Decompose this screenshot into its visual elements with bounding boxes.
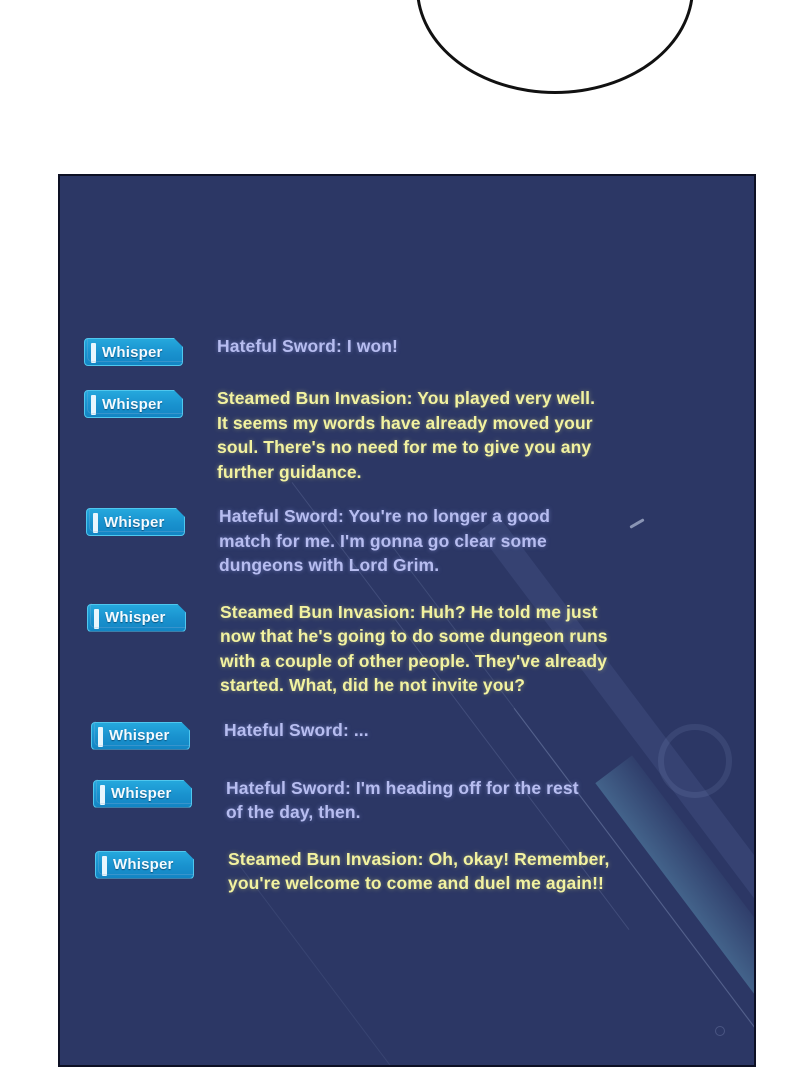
whisper-badge[interactable]: Whisper [95,851,194,879]
whisper-badge[interactable]: Whisper [86,508,185,536]
chat-message-text: Hateful Sword: I won! [217,334,740,359]
whisper-badge[interactable]: Whisper [84,390,183,418]
whisper-bar-icon [94,609,99,629]
whisper-bar-icon [102,856,107,876]
chat-message-text: Hateful Sword: ... [224,718,740,743]
chat-message-log[interactable]: Whisper Hateful Sword: I won! Whisper St… [60,176,754,916]
chat-message-text: Steamed Bun Invasion: Huh? He told me ju… [220,600,740,698]
whisper-badge-label: Whisper [87,515,176,530]
whisper-badge-label: Whisper [96,857,185,872]
whisper-badge[interactable]: Whisper [93,780,192,808]
whisper-badge-label: Whisper [85,345,174,360]
whisper-bar-icon [98,727,103,747]
whisper-bar-icon [93,513,98,533]
chat-message-row: Whisper Steamed Bun Invasion: Huh? He to… [60,600,754,698]
whisper-badge-label: Whisper [88,610,177,625]
whisper-bar-icon [100,785,105,805]
chat-message-text: Hateful Sword: You're no longer a good m… [219,504,740,578]
whisper-badge-label: Whisper [85,397,174,412]
chat-message-row: Whisper Hateful Sword: ... [60,718,754,750]
whisper-badge[interactable]: Whisper [87,604,186,632]
whisper-badge[interactable]: Whisper [91,722,190,750]
whisper-badge-label: Whisper [92,728,181,743]
chat-message-text: Hateful Sword: I'm heading off for the r… [226,776,740,825]
chat-message-text: Steamed Bun Invasion: You played very we… [217,386,740,484]
whisper-bar-icon [91,395,96,415]
chat-message-row: Whisper Hateful Sword: I won! [60,334,754,366]
whisper-bar-icon [91,343,96,363]
whisper-badge-label: Whisper [94,786,183,801]
chat-message-text: Steamed Bun Invasion: Oh, okay! Remember… [228,847,740,896]
speech-bubble: HOW GOOD I REALLY AM! [416,0,694,94]
chat-message-row: Whisper Steamed Bun Invasion: You played… [60,386,754,484]
chat-message-row: Whisper Hateful Sword: I'm heading off f… [60,776,754,825]
comic-panel-top: HOW GOOD I REALLY AM! [0,0,800,160]
game-chat-panel: Whisper Hateful Sword: I won! Whisper St… [58,174,756,1067]
chat-message-row: Whisper Hateful Sword: You're no longer … [60,504,754,578]
chat-message-row: Whisper Steamed Bun Invasion: Oh, okay! … [60,847,754,896]
whisper-badge[interactable]: Whisper [84,338,183,366]
background-sparkle-icon [715,1026,725,1036]
